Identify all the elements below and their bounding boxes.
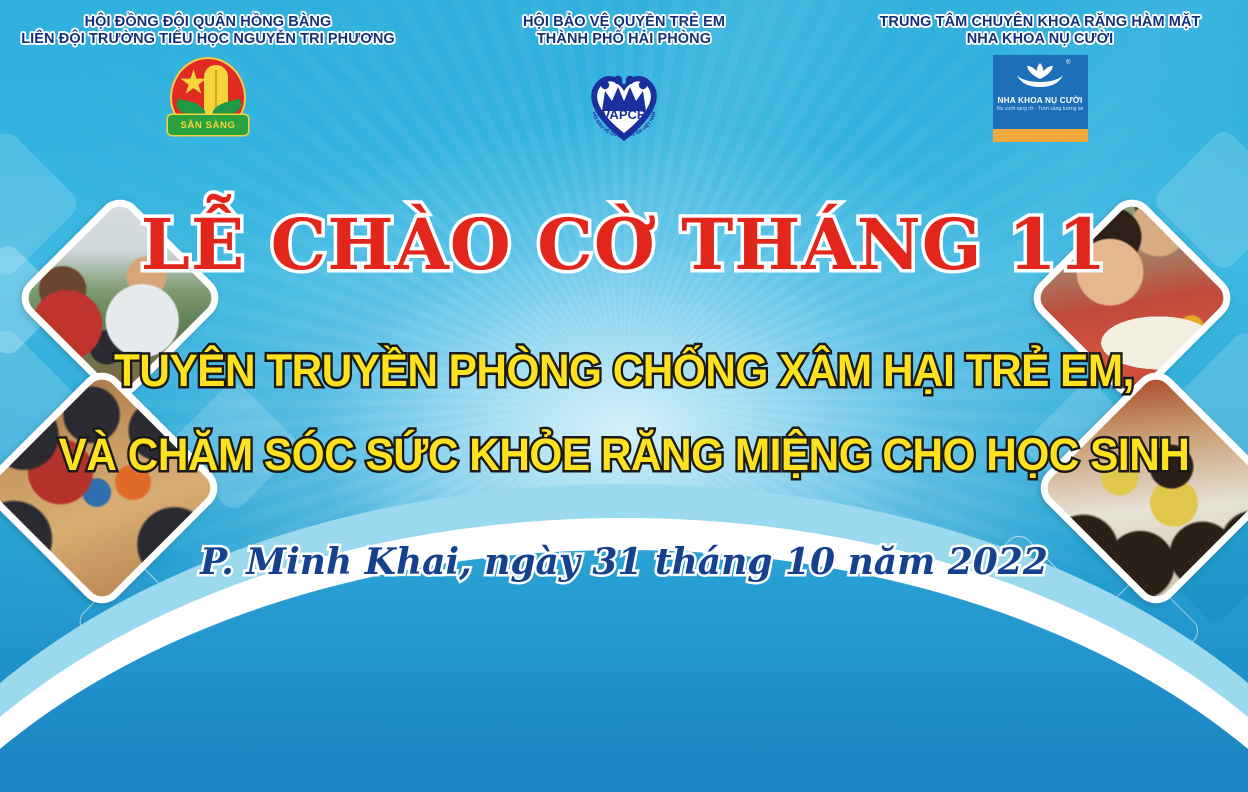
logo-accent-bar — [993, 129, 1088, 142]
org-line-1: HỘI BẢO VỆ QUYỀN TRẺ EM — [523, 14, 725, 31]
org-name-block: HỘI ĐỒNG ĐỘI QUẬN HỒNG BÀNG LIÊN ĐỘI TRƯ… — [21, 14, 395, 48]
registered-mark-icon: ® — [1066, 60, 1070, 66]
org-line-2: THÀNH PHỐ HẢI PHÒNG — [523, 31, 725, 48]
logo-card: ® NHA KHOA NỤ CƯỜI Nụ cười rạng rỡ - Tươ… — [993, 55, 1088, 129]
doi-emblem-icon: SẴN SÀNG — [162, 55, 254, 147]
vapcr-head-right — [639, 81, 647, 89]
org-name-block: TRUNG TÂM CHUYÊN KHOA RĂNG HÀM MẶT NHA K… — [879, 14, 1200, 48]
org-line-1: HỘI ĐỒNG ĐỘI QUẬN HỒNG BÀNG — [21, 14, 395, 31]
vapcr-head-left — [601, 81, 609, 89]
vapcr-head-midleft — [614, 76, 622, 84]
vapcr-head-midright — [626, 76, 634, 84]
event-banner: HỘI ĐỒNG ĐỘI QUẬN HỒNG BÀNG LIÊN ĐỘI TRƯ… — [0, 0, 1248, 792]
logo-tagline: Nụ cười rạng rỡ - Tươi sáng tương lai — [997, 106, 1083, 112]
vapcr-acronym: VAPCR — [602, 107, 647, 122]
nha-khoa-nu-cuoi-logo-icon: ® NHA KHOA NỤ CƯỜI Nụ cười rạng rỡ - Tươ… — [993, 55, 1088, 142]
org-hoi-bao-ve-quyen-tre-em: HỘI BẢO VỆ QUYỀN TRẺ EM THÀNH PHỐ HẢI PH… — [416, 0, 832, 175]
vapcr-logo-icon: VAPCR HỘI BẢO VỆ QUYỀN TRẺ EM VIỆT NAM — [578, 55, 670, 147]
logo-brand-name: NHA KHOA NỤ CƯỜI — [997, 96, 1082, 105]
emblem-ribbon: SẴN SÀNG — [168, 115, 248, 135]
lotus-smile-icon — [1015, 60, 1065, 95]
org-line-2: NHA KHOA NỤ CƯỜI — [879, 31, 1200, 48]
header-organizations: HỘI ĐỒNG ĐỘI QUẬN HỒNG BÀNG LIÊN ĐỘI TRƯ… — [0, 0, 1248, 175]
emblem-motto: SẴN SÀNG — [181, 120, 236, 131]
org-line-2: LIÊN ĐỘI TRƯỜNG TIỂU HỌC NGUYỄN TRI PHƯƠ… — [21, 31, 395, 48]
org-name-block: HỘI BẢO VỆ QUYỀN TRẺ EM THÀNH PHỐ HẢI PH… — [523, 14, 725, 48]
org-nha-khoa-nu-cuoi: TRUNG TÂM CHUYÊN KHOA RĂNG HÀM MẶT NHA K… — [832, 0, 1248, 175]
org-line-1: TRUNG TÂM CHUYÊN KHOA RĂNG HÀM MẶT — [879, 14, 1200, 31]
org-hoi-dong-doi: HỘI ĐỒNG ĐỘI QUẬN HỒNG BÀNG LIÊN ĐỘI TRƯ… — [0, 0, 416, 175]
